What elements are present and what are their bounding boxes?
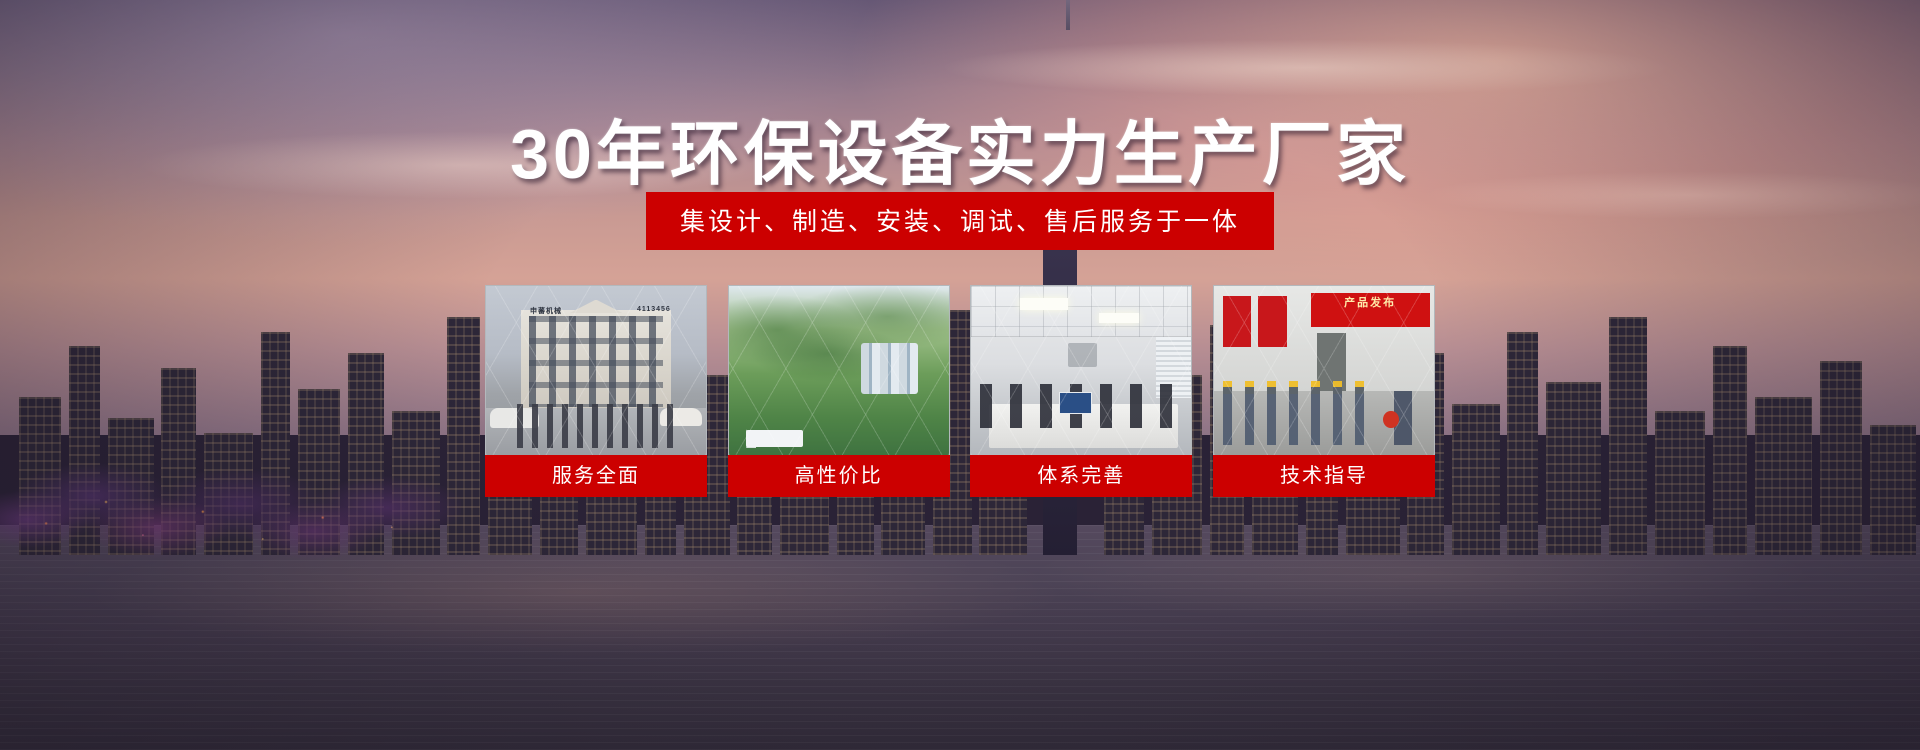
photo-banner-text: 产品发布	[1311, 293, 1430, 327]
photo-telephone: 4113456	[637, 306, 671, 313]
feature-card[interactable]: 高性价比	[728, 285, 950, 497]
card-photo: 产品发布	[1213, 285, 1435, 455]
card-caption: 体系完善	[970, 455, 1192, 497]
photo-company-sign: 申蕃机械	[530, 306, 562, 316]
card-photo	[728, 285, 950, 455]
banner-content: 30年环保设备实力生产厂家 集设计、制造、安装、调试、售后服务于一体 申蕃机械 …	[0, 0, 1920, 750]
card-caption: 高性价比	[728, 455, 950, 497]
card-caption: 技术指导	[1213, 455, 1435, 497]
card-photo	[970, 285, 1192, 455]
card-caption: 服务全面	[485, 455, 707, 497]
feature-card[interactable]: 产品发布 技术指导	[1213, 285, 1435, 497]
feature-card[interactable]: 申蕃机械 4113456 服务全面	[485, 285, 707, 497]
page-title: 30年环保设备实力生产厂家	[0, 98, 1920, 199]
subtitle-container: 集设计、制造、安装、调试、售后服务于一体	[0, 192, 1920, 250]
subtitle-badge: 集设计、制造、安装、调试、售后服务于一体	[646, 192, 1274, 250]
card-photo: 申蕃机械 4113456	[485, 285, 707, 455]
hero-banner: 30年环保设备实力生产厂家 集设计、制造、安装、调试、售后服务于一体 申蕃机械 …	[0, 0, 1920, 750]
feature-card-list: 申蕃机械 4113456 服务全面	[485, 285, 1435, 497]
feature-card[interactable]: 体系完善	[970, 285, 1192, 497]
